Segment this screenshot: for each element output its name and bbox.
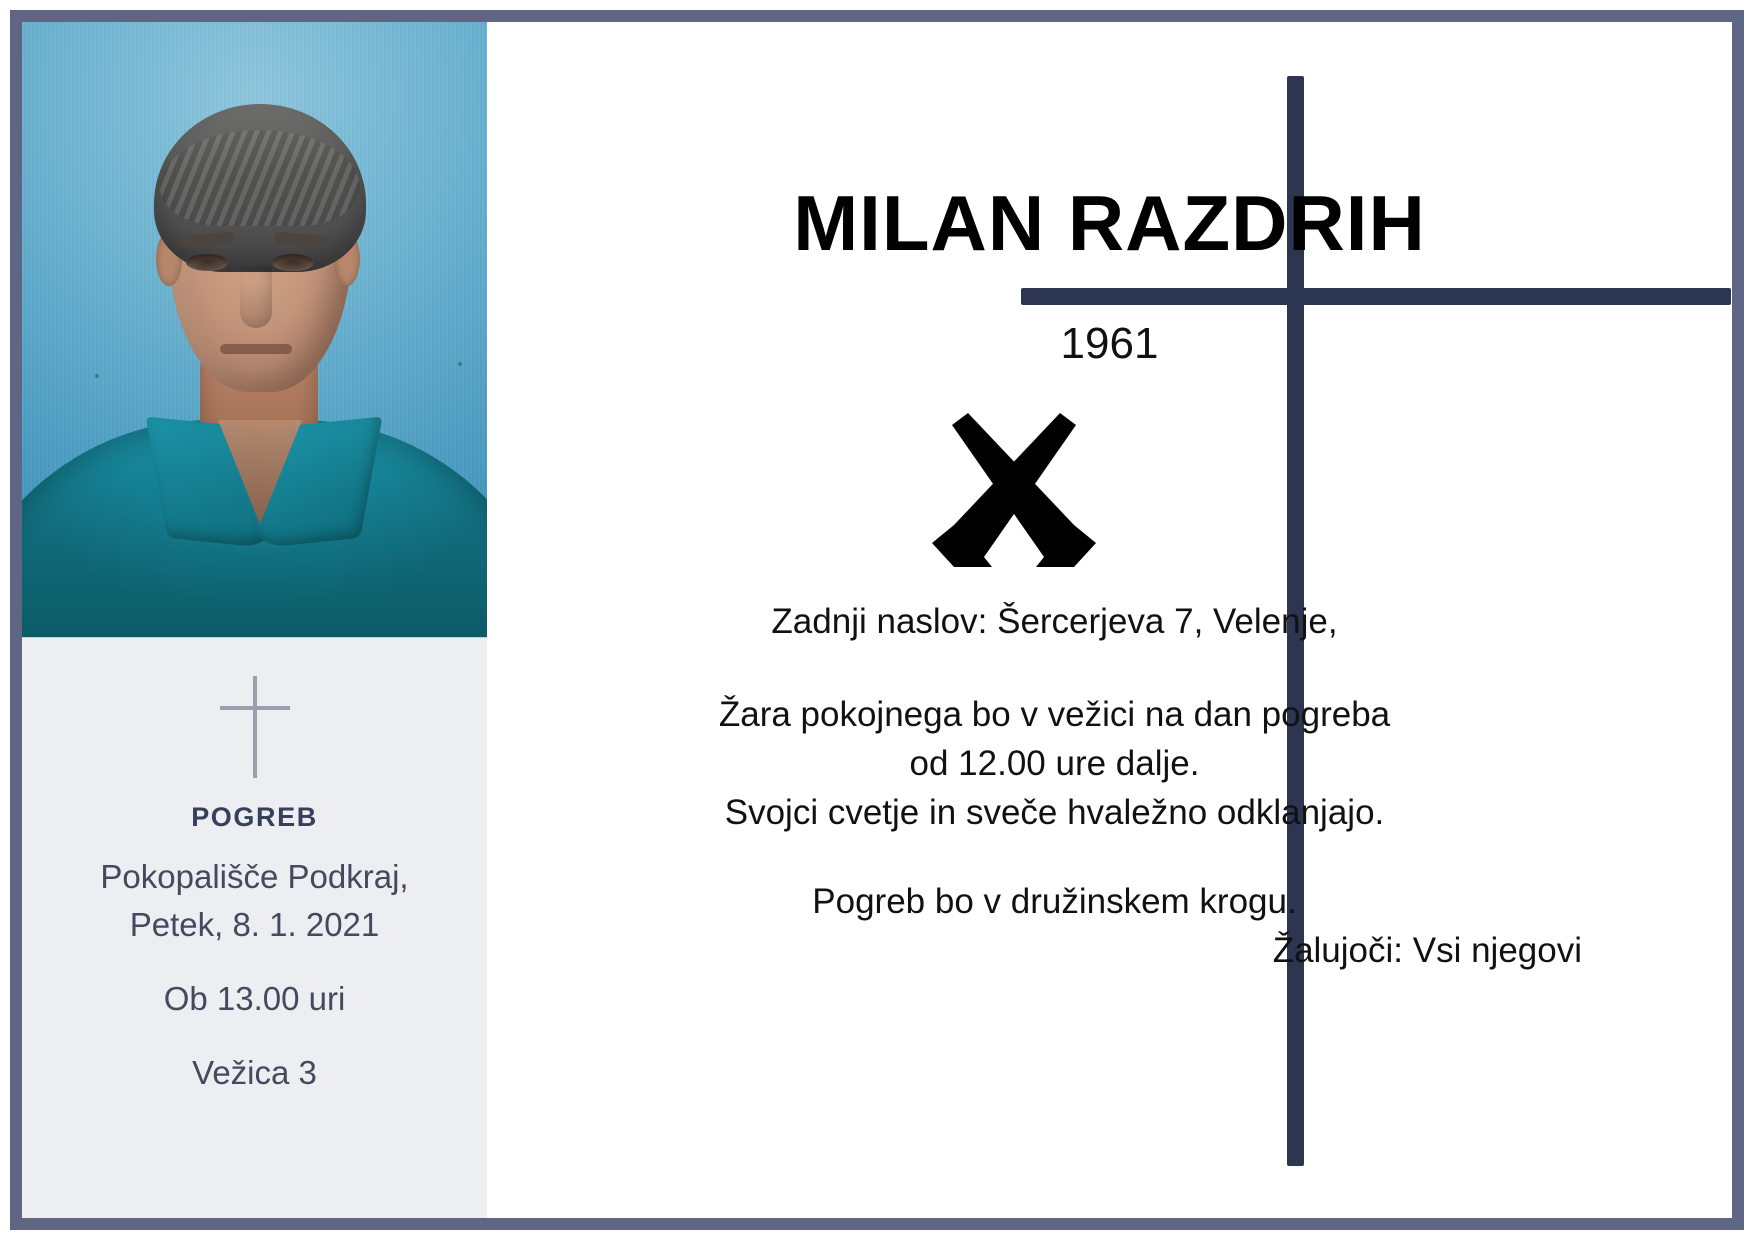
crossed-hammer-and-pick-mining-symbol	[924, 407, 1104, 567]
photo-speck	[95, 374, 99, 378]
christian-cross-icon	[212, 676, 298, 778]
obituary-card: POGREB Pokopališče Podkraj, Petek, 8. 1.…	[22, 22, 1732, 1218]
photo-eye-left	[186, 254, 228, 271]
funeral-chapel: Vežica 3	[22, 1049, 487, 1097]
photo-eye-right	[272, 254, 314, 271]
funeral-date: Petek, 8. 1. 2021	[22, 901, 487, 949]
right-column: MILAN RAZDRIH 1961 Zadnji n	[487, 22, 1732, 1218]
cross-vertical-bar	[253, 676, 257, 778]
text-spacer	[527, 837, 1582, 877]
funeral-time: Ob 13.00 uri	[22, 975, 487, 1023]
large-cross-horizontal-bar	[1021, 288, 1731, 305]
funeral-heading: POGREB	[22, 802, 487, 833]
deceased-name: MILAN RAZDRIH	[487, 178, 1732, 269]
mourners-line: Žalujoči: Vsi njegovi	[527, 926, 1582, 975]
notice-body-text: Zadnji naslov: Šercerjeva 7, Velenje, Ža…	[527, 597, 1582, 975]
address-line: Zadnji naslov: Šercerjeva 7, Velenje,	[527, 597, 1582, 646]
photo-mouth	[220, 344, 292, 354]
urn-line-1: Žara pokojnega bo v vežici na dan pogreb…	[527, 690, 1582, 739]
text-spacer	[527, 646, 1582, 690]
family-circle-line: Pogreb bo v družinskem krogu.	[527, 877, 1582, 926]
photo-speck	[458, 362, 462, 366]
portrait-photo	[22, 22, 487, 637]
flowers-line: Svojci cvetje in sveče hvaležno odklanja…	[527, 788, 1582, 837]
funeral-place: Pokopališče Podkraj,	[22, 853, 487, 901]
obituary-card-frame: POGREB Pokopališče Podkraj, Petek, 8. 1.…	[10, 10, 1744, 1230]
cross-horizontal-bar	[220, 706, 290, 710]
photo-nose	[240, 266, 272, 328]
urn-line-2: od 12.00 ure dalje.	[527, 739, 1582, 788]
funeral-details-block: POGREB Pokopališče Podkraj, Petek, 8. 1.…	[22, 638, 487, 1097]
deceased-year: 1961	[487, 319, 1732, 369]
left-column: POGREB Pokopališče Podkraj, Petek, 8. 1.…	[22, 22, 487, 1218]
